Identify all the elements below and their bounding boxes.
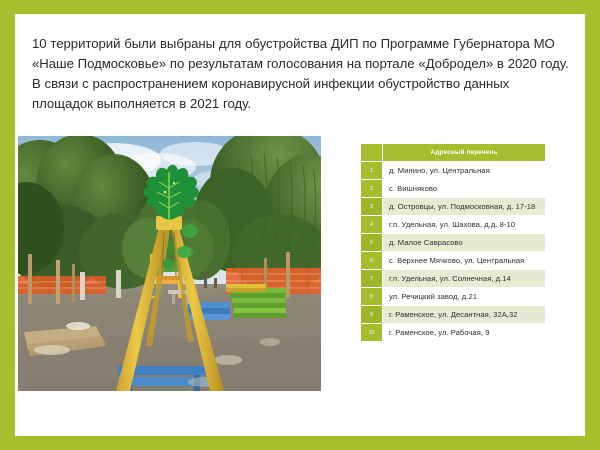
- row-number: 2: [361, 180, 383, 198]
- column-header-address: Адресный перечень: [383, 144, 546, 162]
- column-header-number: [361, 144, 383, 162]
- table-row: 9 г. Раменское, ул. Десантная, 32А,32: [361, 306, 546, 324]
- row-number: 10: [361, 324, 383, 342]
- slide-content-area: 10 территорий были выбраны для обустройс…: [15, 14, 585, 436]
- row-number: 4: [361, 216, 383, 234]
- table-row: 7 г.п. Удельная, ул. Солнечная, д.14: [361, 270, 546, 288]
- address-list-table-container: Адресный перечень 1 д. Минино, ул. Центр…: [360, 143, 546, 342]
- playground-construction-photo: [18, 136, 321, 391]
- row-number: 8: [361, 288, 383, 306]
- row-number: 3: [361, 198, 383, 216]
- table-header-row: Адресный перечень: [361, 144, 546, 162]
- table-row: 10 г. Раменское, ул. Рабочая, 9: [361, 324, 546, 342]
- row-address: г. Раменское, ул. Рабочая, 9: [383, 324, 546, 342]
- row-address: г.п. Удельная, ул. Солнечная, д.14: [383, 270, 546, 288]
- row-address: г.п. Удельная, ул. Шахова, д.д. 8-10: [383, 216, 546, 234]
- photo-illustration: [18, 136, 321, 391]
- row-address: д. Островцы, ул. Подмосковная, д. 17-18: [383, 198, 546, 216]
- presentation-slide: 10 территорий были выбраны для обустройс…: [0, 0, 600, 450]
- row-number: 1: [361, 162, 383, 180]
- row-number: 5: [361, 234, 383, 252]
- row-number: 7: [361, 270, 383, 288]
- table-row: 2 с. Вишняково: [361, 180, 546, 198]
- table-body: 1 д. Минино, ул. Центральная 2 с. Вишняк…: [361, 162, 546, 342]
- address-list-table: Адресный перечень 1 д. Минино, ул. Центр…: [360, 143, 546, 342]
- table-row: 5 д. Малое Саврасово: [361, 234, 546, 252]
- row-address: г. Раменское, ул. Десантная, 32А,32: [383, 306, 546, 324]
- table-row: 4 г.п. Удельная, ул. Шахова, д.д. 8-10: [361, 216, 546, 234]
- row-number: 6: [361, 252, 383, 270]
- row-address: ул. Речицкий завод, д.21: [383, 288, 546, 306]
- row-address: д. Малое Саврасово: [383, 234, 546, 252]
- row-address: д. Минино, ул. Центральная: [383, 162, 546, 180]
- table-row: 8 ул. Речицкий завод, д.21: [361, 288, 546, 306]
- table-head: Адресный перечень: [361, 144, 546, 162]
- row-address: с. Верхнее Мячково, ул. Центральная: [383, 252, 546, 270]
- row-number: 9: [361, 306, 383, 324]
- row-address: с. Вишняково: [383, 180, 546, 198]
- slide-heading-text: 10 территорий были выбраны для обустройс…: [32, 34, 572, 114]
- table-row: 1 д. Минино, ул. Центральная: [361, 162, 546, 180]
- table-row: 6 с. Верхнее Мячково, ул. Центральная: [361, 252, 546, 270]
- table-row: 3 д. Островцы, ул. Подмосковная, д. 17-1…: [361, 198, 546, 216]
